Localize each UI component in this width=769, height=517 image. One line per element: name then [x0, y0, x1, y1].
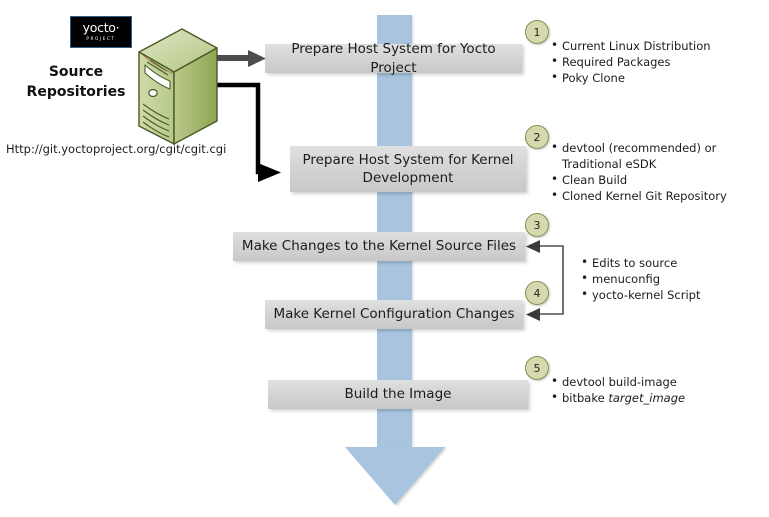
- note-item: devtool build-image: [562, 374, 748, 390]
- note-item: devtool (recommended) or Traditional eSD…: [562, 140, 748, 172]
- step-badge-4: 4: [525, 281, 549, 305]
- source-label-line2: Repositories: [14, 82, 138, 102]
- source-label-line1: Source: [14, 62, 138, 82]
- step-badge-5: 5: [525, 356, 549, 380]
- notes-steps-3-and-4: Edits to source menuconfig yocto-kernel …: [578, 255, 753, 303]
- notes-step-2: devtool (recommended) or Traditional eSD…: [548, 140, 748, 204]
- note-bitbake-prefix: bitbake: [562, 391, 608, 405]
- process-box-make-kernel-config-changes[interactable]: Make Kernel Configuration Changes: [265, 300, 523, 329]
- connector-server-to-box2: [216, 85, 281, 182]
- process-box-build-the-image[interactable]: Build the Image: [268, 380, 528, 409]
- connector-server-to-box1: [215, 50, 266, 67]
- note-item: Clean Build: [562, 172, 748, 188]
- note-item-bitbake: bitbake target_image: [562, 390, 748, 406]
- yocto-project-logo: yocto· PROJECT: [70, 16, 132, 48]
- server-icon: [136, 26, 220, 148]
- notes-step-1: Current Linux Distribution Required Pack…: [548, 38, 763, 86]
- note-item: Required Packages: [562, 54, 763, 70]
- process-box-kernel-line2: Development: [302, 169, 513, 187]
- note-item: yocto-kernel Script: [592, 287, 753, 303]
- notes-step-5: devtool build-image bitbake target_image: [548, 374, 748, 406]
- note-item: Poky Clone: [562, 70, 763, 86]
- process-box-kernel-line1: Prepare Host System for Kernel: [302, 151, 513, 169]
- diagram-canvas: yocto· PROJECT Source Repositories Http:…: [0, 0, 769, 517]
- step-badge-2: 2: [525, 125, 549, 149]
- yocto-logo-wordmark: yocto·: [83, 22, 120, 34]
- note-item: menuconfig: [592, 271, 753, 287]
- yocto-logo-subtext: PROJECT: [86, 35, 115, 42]
- process-box-make-kernel-source-changes[interactable]: Make Changes to the Kernel Source Files: [233, 232, 525, 261]
- step-badge-3: 3: [525, 213, 549, 237]
- flow-arrow-head: [345, 447, 445, 505]
- step-badge-1: 1: [525, 20, 549, 44]
- note-item: Cloned Kernel Git Repository: [562, 188, 748, 204]
- note-bitbake-target: target_image: [608, 391, 685, 405]
- connector-notes-to-box3-box4: [526, 240, 563, 321]
- note-item: Current Linux Distribution: [562, 38, 763, 54]
- process-box-prepare-host-yocto[interactable]: Prepare Host System for Yocto Project: [265, 44, 522, 73]
- process-box-prepare-host-kernel[interactable]: Prepare Host System for Kernel Developme…: [290, 146, 526, 192]
- source-repositories-label: Source Repositories: [14, 62, 138, 102]
- note-item: Edits to source: [592, 255, 753, 271]
